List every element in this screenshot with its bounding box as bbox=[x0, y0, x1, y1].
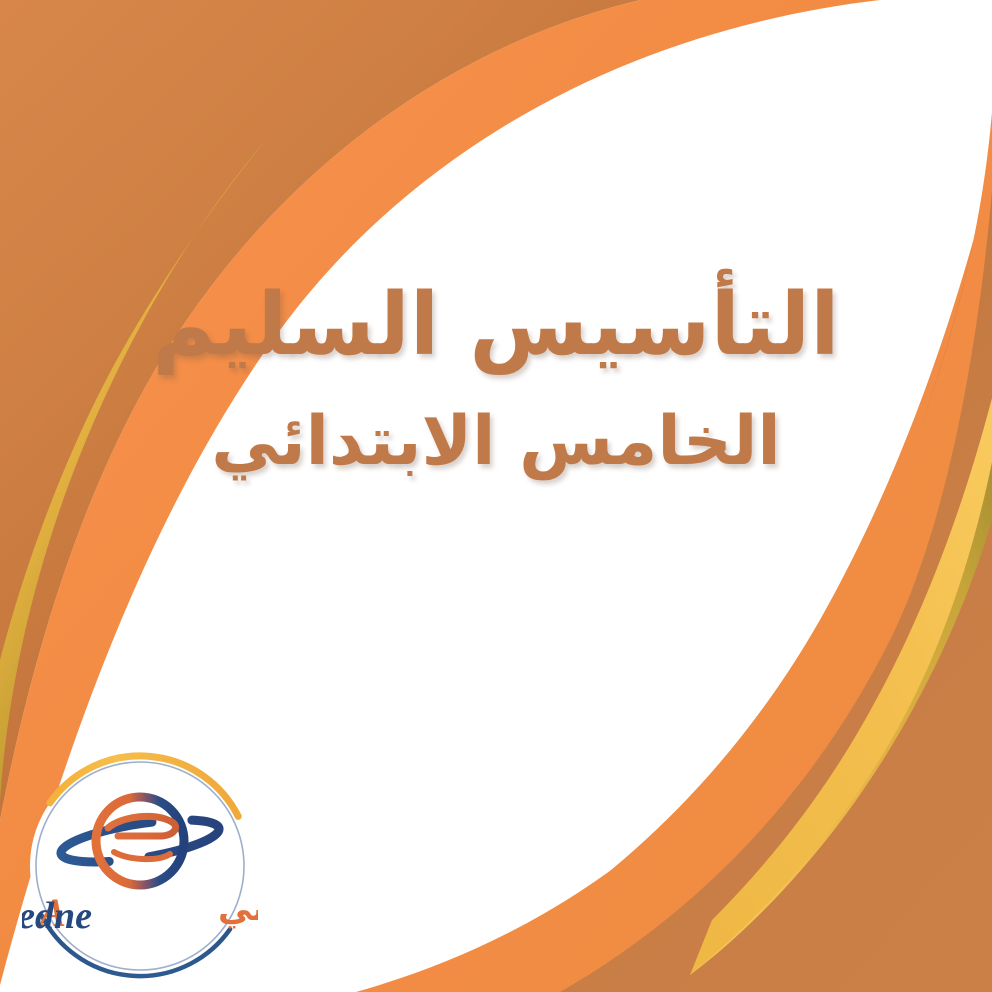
bottom-right-orange-sweep-fill bbox=[356, 112, 992, 992]
afedne-logo[interactable]: A fedne أفدني bbox=[22, 748, 258, 984]
poster-canvas: التأسيس السليم الخامس الابتدائي bbox=[0, 0, 992, 992]
logo-latin-rest: fedne bbox=[22, 895, 92, 937]
title-line-secondary: الخامس الابتدائي bbox=[0, 398, 992, 485]
bottom-right-orange-sweep bbox=[380, 120, 992, 992]
logo-arabic-wordmark: أفدني bbox=[218, 886, 258, 929]
title-line-primary: التأسيس السليم bbox=[0, 270, 992, 380]
bottom-right-gold-sweep bbox=[690, 400, 992, 975]
poster-title-block: التأسيس السليم الخامس الابتدائي bbox=[0, 270, 992, 485]
